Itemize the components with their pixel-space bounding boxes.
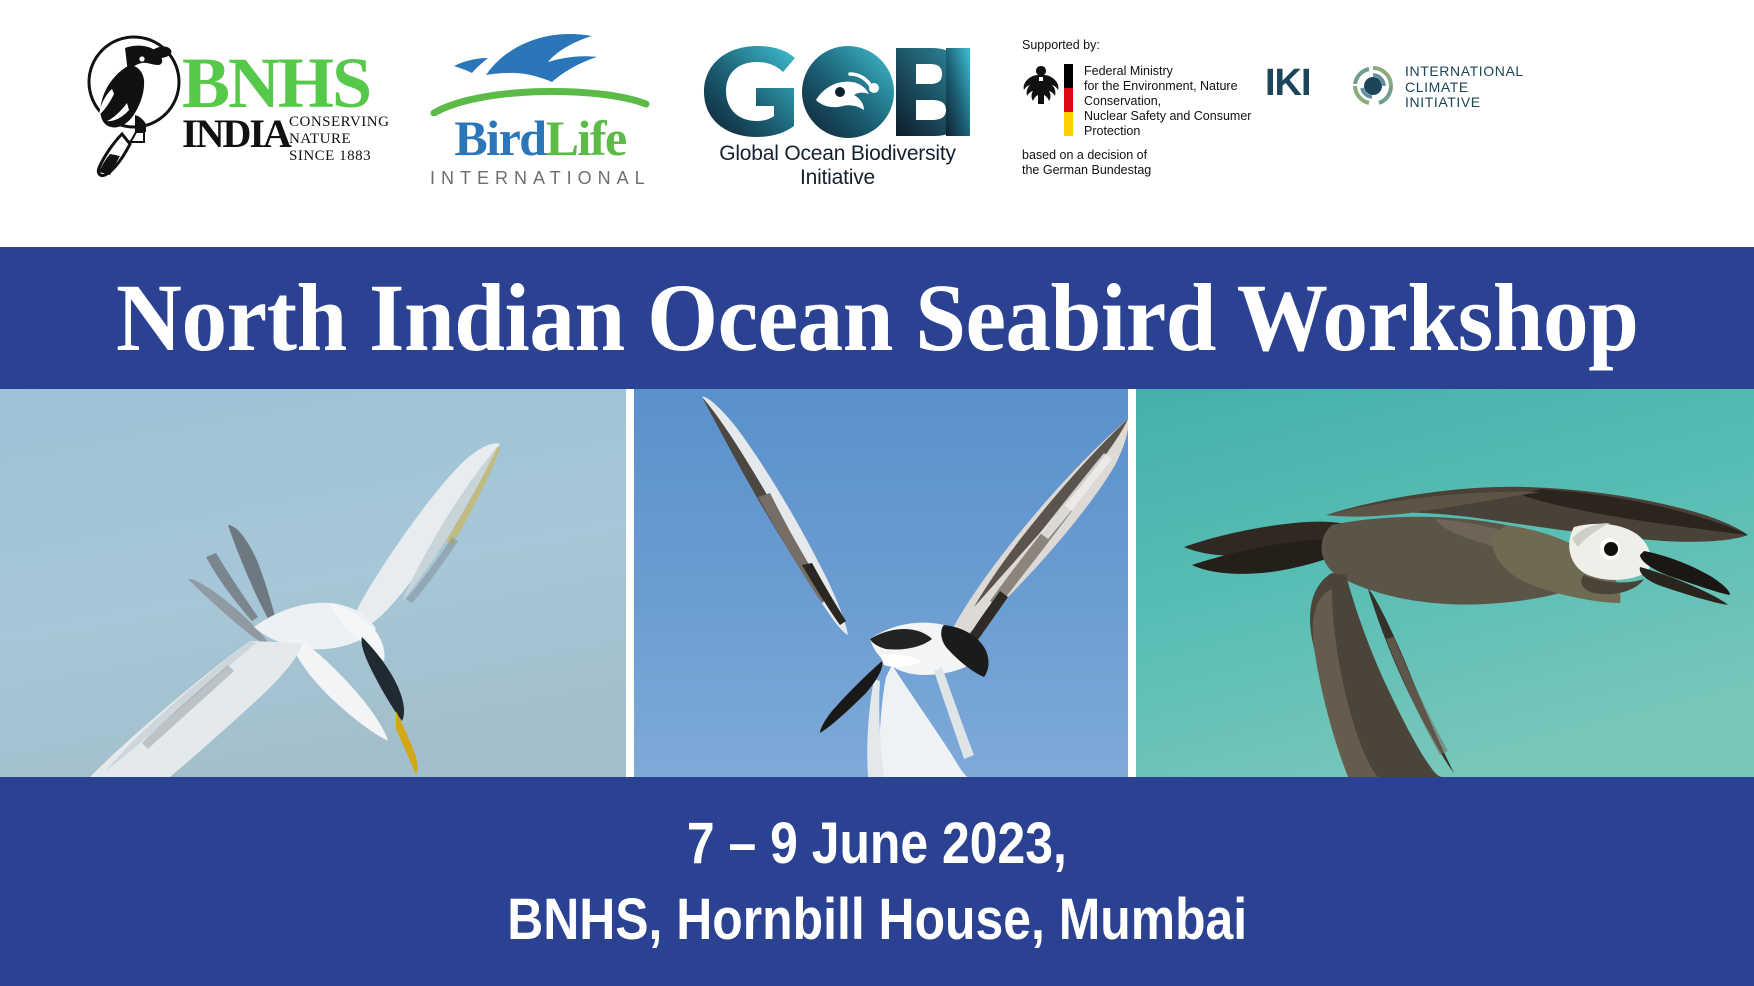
logo-german-ministry: Federal Ministry for the Environment, Na… bbox=[1022, 64, 1272, 136]
birdlife-bird-icon bbox=[452, 30, 627, 85]
footer-bar: 7 – 9 June 2023, BNHS, Hornbill House, M… bbox=[0, 777, 1754, 986]
birdlife-wordmark: BirdLife bbox=[430, 112, 650, 164]
birdlife-life-text: Life bbox=[546, 110, 626, 166]
logo-gobi: Global Ocean Biodiversity Initiative bbox=[700, 44, 975, 179]
brown-noddy-image bbox=[1136, 389, 1754, 777]
logo-birdlife: BirdLife INTERNATIONAL bbox=[430, 30, 650, 185]
iki-acronym: IKI bbox=[1265, 64, 1311, 102]
logo-iki: IKI INTERNATIONAL CLIMATE INITIATIVE bbox=[1265, 58, 1495, 120]
tern-diving-image bbox=[0, 389, 626, 777]
page-title: North Indian Ocean Seabird Workshop bbox=[116, 268, 1638, 368]
german-flag-bar-icon bbox=[1064, 64, 1073, 136]
gobi-tagline: Global Ocean Biodiversity Initiative bbox=[700, 142, 975, 190]
logo-bar: BNHS INDIA CONSERVING NATURE SINCE 1883 … bbox=[0, 0, 1754, 250]
logo-bnhs: BNHS INDIA CONSERVING NATURE SINCE 1883 bbox=[78, 28, 408, 178]
iki-full-name: INTERNATIONAL CLIMATE INITIATIVE bbox=[1405, 64, 1524, 111]
supported-by-label: Supported by: bbox=[1022, 38, 1272, 52]
photo-strip bbox=[0, 389, 1754, 777]
ministry-name: Federal Ministry for the Environment, Na… bbox=[1084, 64, 1274, 139]
supporter-block: Supported by: Federal Ministry for the E… bbox=[1022, 38, 1272, 178]
birdlife-international-label: INTERNATIONAL bbox=[430, 168, 650, 189]
gobi-wordmark-icon bbox=[700, 44, 975, 139]
bnhs-hornbill-icon bbox=[78, 32, 190, 178]
title-bar: North Indian Ocean Seabird Workshop bbox=[0, 247, 1754, 389]
poster: BNHS INDIA CONSERVING NATURE SINCE 1883 … bbox=[0, 0, 1754, 986]
bundestag-note: based on a decision of the German Bundes… bbox=[1022, 148, 1272, 177]
birdlife-bird-text: Bird bbox=[454, 110, 545, 166]
event-venue: BNHS, Hornbill House, Mumbai bbox=[507, 882, 1247, 958]
bridled-tern-image bbox=[634, 389, 1128, 777]
iki-circle-icon bbox=[1345, 58, 1401, 114]
photo-bridled-tern bbox=[634, 389, 1128, 777]
bnhs-india-label: INDIA bbox=[182, 116, 290, 152]
bnhs-name: BNHS bbox=[182, 52, 370, 114]
bnhs-wordmark: BNHS INDIA CONSERVING NATURE SINCE 1883 bbox=[182, 52, 370, 154]
photo-great-crested-tern bbox=[0, 389, 626, 777]
photo-brown-noddy bbox=[1136, 389, 1754, 777]
event-dates: 7 – 9 June 2023, bbox=[687, 806, 1067, 882]
bnhs-tagline: CONSERVING NATURE SINCE 1883 bbox=[289, 114, 389, 165]
german-eagle-icon bbox=[1022, 64, 1060, 106]
